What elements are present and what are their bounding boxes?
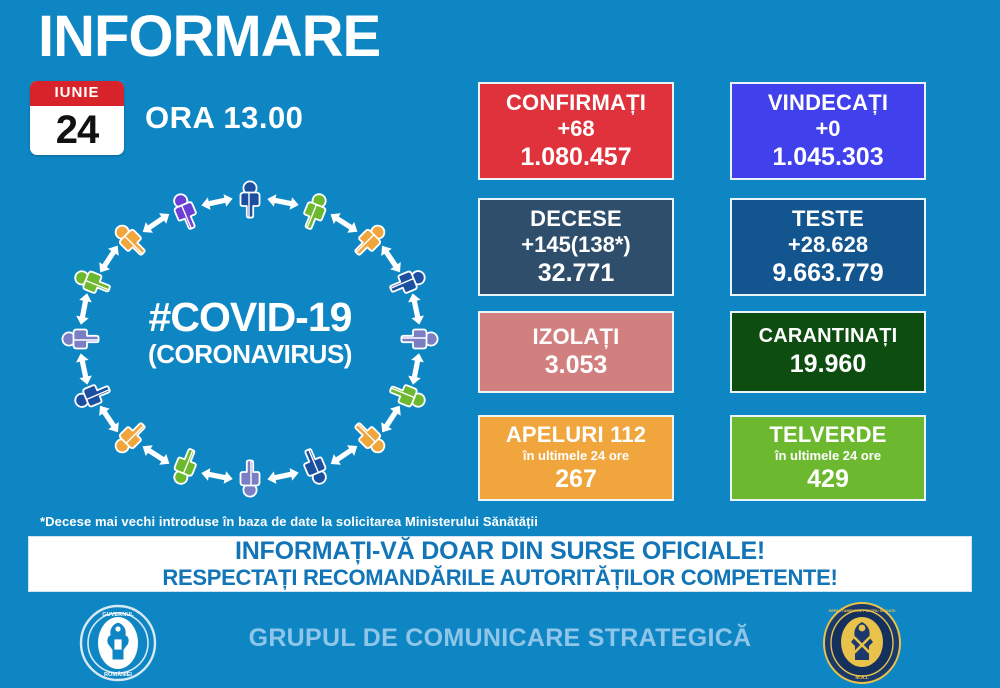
seal-text-top: GUVERNUL	[102, 612, 134, 618]
stat-label: DECESE	[530, 206, 622, 232]
stat-box-apeluri-112[interactable]: APELURI 112 în ultimele 24 ore 267	[478, 415, 674, 501]
person-figures	[62, 181, 437, 496]
stat-sublabel: în ultimele 24 ore	[775, 448, 881, 464]
stat-box-izolati[interactable]: IZOLAȚI 3.053	[478, 311, 674, 393]
stat-label: IZOLAȚI	[533, 324, 620, 350]
hour-label: ORA 13.00	[145, 100, 303, 136]
stat-label: CONFIRMAȚI	[506, 90, 646, 116]
stat-delta: +0	[815, 116, 840, 142]
stat-box-decese[interactable]: DECESE +145(138*) 32.771	[478, 198, 674, 296]
emblem-text-top: DEPARTAMENTUL PENTRU SITUATII	[829, 609, 896, 613]
stat-delta: +28.628	[788, 232, 868, 258]
stat-delta: +145(138*)	[521, 232, 630, 258]
calendar-icon: IUNIE 24	[30, 81, 124, 155]
calendar-day: 24	[30, 106, 124, 155]
stat-total: 1.080.457	[520, 142, 631, 172]
stat-label: CARANTINAȚI	[759, 325, 898, 349]
official-sources-banner: INFORMAȚI-VĂ DOAR DIN SURSE OFICIALE! RE…	[28, 536, 972, 592]
footnote: *Decese mai vechi introduse în baza de d…	[40, 514, 538, 529]
stat-total: 9.663.779	[772, 258, 883, 288]
banner-line-2: RESPECTAȚI RECOMANDĂRILE AUTORITĂȚILOR C…	[162, 565, 837, 590]
stat-delta: +68	[557, 116, 594, 142]
stat-box-vindecati[interactable]: VINDECAȚI +0 1.045.303	[730, 82, 926, 180]
stat-sublabel: în ultimele 24 ore	[523, 448, 629, 464]
covid-circle-svg	[40, 178, 460, 500]
stat-label: APELURI 112	[506, 422, 646, 448]
emblem-text-bottom: M.A.I.	[855, 675, 869, 681]
stat-total: 3.053	[545, 350, 608, 380]
page-title: INFORMARE	[38, 4, 380, 71]
stat-box-teste[interactable]: TESTE +28.628 9.663.779	[730, 198, 926, 296]
stat-box-telverde[interactable]: TELVERDE în ultimele 24 ore 429	[730, 415, 926, 501]
stat-total: 429	[807, 464, 849, 494]
stat-box-carantinati[interactable]: CARANTINAȚI 19.960	[730, 311, 926, 393]
dsu-mai-emblem-icon: DEPARTAMENTUL PENTRU SITUATII M.A.I.	[822, 602, 902, 684]
stat-label: TELVERDE	[769, 422, 886, 448]
covid-circle-graphic: #COVID-19 (CORONAVIRUS)	[40, 178, 460, 500]
calendar-month: IUNIE	[30, 81, 124, 106]
stat-total: 19.960	[790, 349, 866, 379]
stat-total: 1.045.303	[772, 142, 883, 172]
stat-label: TESTE	[792, 206, 864, 232]
stat-total: 267	[555, 464, 597, 494]
banner-line-1: INFORMAȚI-VĂ DOAR DIN SURSE OFICIALE!	[235, 538, 765, 566]
seal-text-bottom: ROMÂNIEI	[104, 671, 132, 678]
stat-total: 32.771	[538, 258, 614, 288]
stat-box-confirmati[interactable]: CONFIRMAȚI +68 1.080.457	[478, 82, 674, 180]
stat-label: VINDECAȚI	[768, 90, 888, 116]
